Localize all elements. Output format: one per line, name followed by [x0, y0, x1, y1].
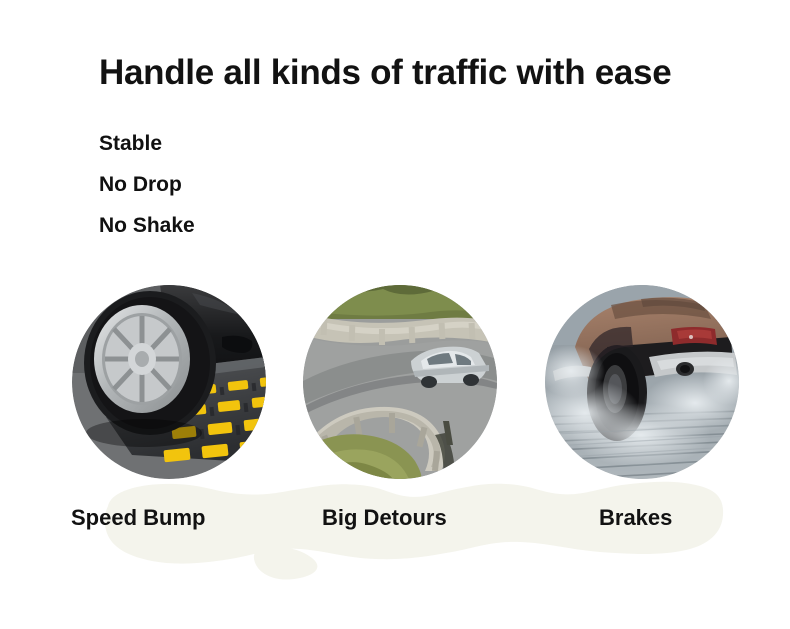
feature-item-no-shake: No Shake	[99, 205, 419, 246]
silver-car-glyph	[411, 347, 489, 388]
gallery-caption-big-detours: Big Detours	[322, 505, 447, 531]
car-braking-with-spray-photo	[545, 285, 739, 479]
gallery-row	[0, 285, 790, 481]
car-on-curved-road-photo	[303, 285, 497, 479]
feature-list: Stable No Drop No Shake	[99, 123, 419, 246]
feature-item-no-drop: No Drop	[99, 164, 419, 205]
slide-root: Handle all kinds of traffic with ease St…	[0, 0, 790, 624]
car-wheel-on-speed-bump-photo	[72, 285, 266, 479]
feature-item-stable: Stable	[99, 123, 419, 164]
page-title: Handle all kinds of traffic with ease	[99, 53, 671, 93]
gallery-caption-brakes: Brakes	[599, 505, 672, 531]
blob-accent-path	[254, 547, 317, 580]
gallery-caption-speed-bump: Speed Bump	[71, 505, 205, 531]
